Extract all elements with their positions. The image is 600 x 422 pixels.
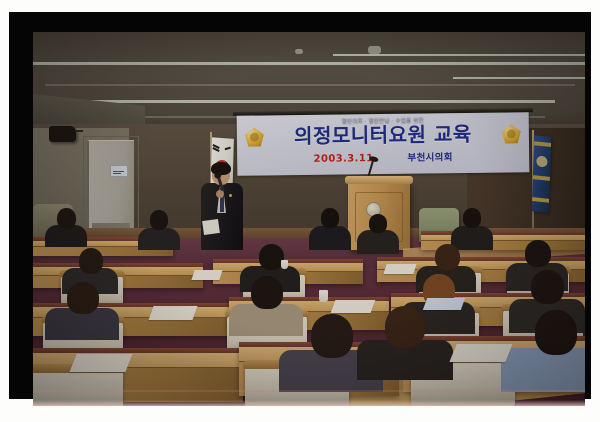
door-sign bbox=[110, 165, 128, 177]
handout-sheet bbox=[69, 354, 132, 372]
handout-sheet bbox=[191, 270, 222, 280]
handout-sheet bbox=[331, 300, 376, 313]
loudspeaker-icon bbox=[49, 126, 76, 142]
attendee bbox=[55, 282, 111, 332]
attendee bbox=[143, 210, 175, 244]
banner-organization: 부천시의회 bbox=[407, 149, 452, 164]
film-frame-border: 열린의회 · 열린만남 · 수업을 위한 의정모니터요원 교육 2003.3.1… bbox=[9, 12, 591, 399]
event-banner: 열린의회 · 열린만남 · 수업을 위한 의정모니터요원 교육 2003.3.1… bbox=[237, 112, 530, 176]
bucheon-city-flag bbox=[532, 135, 552, 213]
banner-date: 2003.3.11 bbox=[314, 153, 374, 165]
handout-sheet bbox=[449, 344, 512, 362]
speaker-notes bbox=[202, 219, 220, 235]
attendee bbox=[239, 276, 295, 328]
chamber-side-door[interactable] bbox=[87, 140, 134, 233]
attendee bbox=[49, 208, 83, 242]
handout-sheet bbox=[383, 264, 416, 274]
photograph: 열린의회 · 열린만남 · 수업을 위한 의정모니터요원 교육 2003.3.1… bbox=[33, 32, 585, 406]
paper-cup bbox=[319, 290, 328, 302]
attendee bbox=[371, 306, 437, 372]
attendee bbox=[457, 208, 487, 244]
handout-sheet bbox=[148, 306, 197, 320]
attendee bbox=[363, 214, 393, 248]
ceiling-sensor-icon bbox=[295, 49, 303, 54]
council-chair bbox=[33, 368, 123, 406]
scanned-photo-page: 열린의회 · 열린만남 · 수업을 위한 의정모니터요원 교육 2003.3.1… bbox=[0, 0, 600, 422]
paper-cup bbox=[281, 260, 288, 269]
attendee bbox=[315, 208, 345, 244]
attendee bbox=[519, 310, 585, 382]
banner-title: 의정모니터요원 교육 bbox=[237, 122, 529, 148]
ceiling-vent-icon bbox=[368, 46, 381, 54]
lapel-pin-icon bbox=[229, 194, 232, 197]
city-flag-crest-icon bbox=[536, 155, 547, 167]
speaker-presenter bbox=[201, 164, 243, 250]
